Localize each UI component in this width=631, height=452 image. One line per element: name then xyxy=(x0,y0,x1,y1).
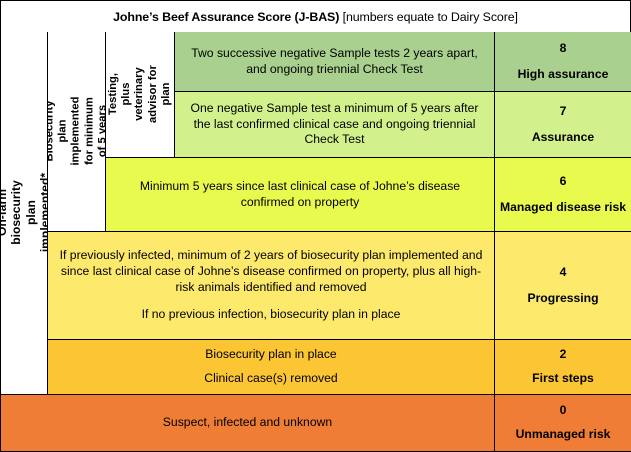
row-7-description: One negative Sample test a minimum of 5 … xyxy=(175,92,495,158)
row-8-score-number: 8 xyxy=(560,41,567,57)
side-label-on-farm-biosecurity-text: On-farm biosecurity plan implemented* xyxy=(1,173,48,252)
row-2-score: 2 First steps xyxy=(495,340,631,395)
side-label-testing-vet-advisor-text: Testing, plus veterinary advisor for pla… xyxy=(107,61,173,129)
row-2-score-label: First steps xyxy=(532,371,594,387)
row-8-description: Two successive negative Sample tests 2 y… xyxy=(175,32,495,92)
row-6-score-label: Managed disease risk xyxy=(500,200,626,216)
row-0-description-line-1: Suspect, infected and unknown xyxy=(163,415,332,431)
row-4-score: 4 Progressing xyxy=(495,232,631,340)
row-6-score: 6 Managed disease risk xyxy=(495,158,631,232)
row-2-description-line-1: Biosecurity plan in place xyxy=(205,347,336,363)
row-4-score-number: 4 xyxy=(560,265,567,281)
side-label-biosecurity-plan-5-years: Biosecurity plan implemented for minimum… xyxy=(48,32,106,232)
row-4-description-line-1: If previously infected, minimum of 2 yea… xyxy=(56,248,486,296)
title-plain-part: [numbers equate to Dairy Score] xyxy=(339,10,518,24)
title-bold-part: Johne’s Beef Assurance Score (J-BAS) xyxy=(113,10,339,24)
jbas-grid: On-farm biosecurity plan implemented* Bi… xyxy=(0,32,631,452)
side-label-on-farm-biosecurity: On-farm biosecurity plan implemented* xyxy=(1,32,48,395)
row-2-score-number: 2 xyxy=(560,347,567,363)
figure-title-bar: Johne’s Beef Assurance Score (J-BAS) [nu… xyxy=(0,0,631,33)
row-7-description-line-1: One negative Sample test a minimum of 5 … xyxy=(183,101,486,149)
row-7-score-label: Assurance xyxy=(532,130,594,146)
row-6-score-number: 6 xyxy=(560,174,567,190)
row-7-score: 7 Assurance xyxy=(495,92,631,158)
row-6-description: Minimum 5 years since last clinical case… xyxy=(106,158,495,232)
side-label-biosecurity-plan-5-years-text: Biosecurity plan implemented for minimum… xyxy=(48,97,106,166)
row-8-score: 8 High assurance xyxy=(495,32,631,92)
side-label-testing-vet-advisor: Testing, plus veterinary advisor for pla… xyxy=(106,32,175,158)
page-title: Johne’s Beef Assurance Score (J-BAS) [nu… xyxy=(113,10,518,24)
jbas-table-figure: Johne’s Beef Assurance Score (J-BAS) [nu… xyxy=(0,0,631,452)
row-0-score-number: 0 xyxy=(560,403,567,419)
row-6-description-line-1: Minimum 5 years since last clinical case… xyxy=(114,179,486,211)
row-8-description-line-1: Two successive negative Sample tests 2 y… xyxy=(183,46,486,78)
row-4-description: If previously infected, minimum of 2 yea… xyxy=(48,232,495,340)
row-0-score-label: Unmanaged risk xyxy=(516,427,611,443)
row-0-description: Suspect, infected and unknown xyxy=(1,395,495,451)
row-7-score-number: 7 xyxy=(560,104,567,120)
row-2-description-line-2: Clinical case(s) removed xyxy=(204,371,337,387)
row-8-score-label: High assurance xyxy=(518,67,609,83)
row-4-description-line-2: If no previous infection, biosecurity pl… xyxy=(142,307,401,323)
row-0-score: 0 Unmanaged risk xyxy=(495,395,631,451)
row-4-score-label: Progressing xyxy=(527,291,598,307)
row-2-description: Biosecurity plan in place Clinical case(… xyxy=(48,340,495,395)
